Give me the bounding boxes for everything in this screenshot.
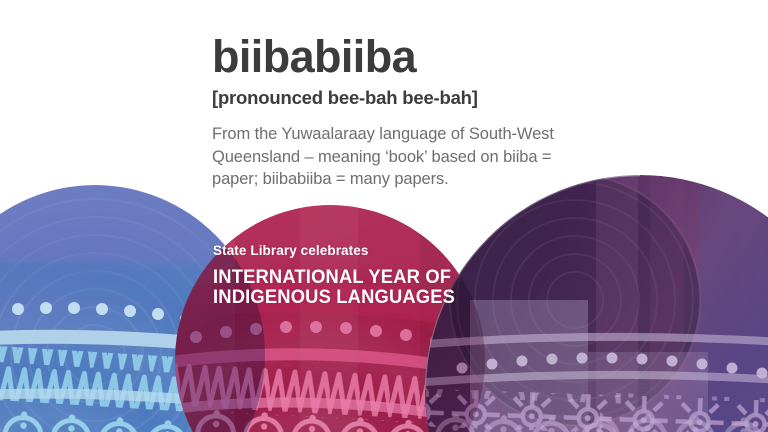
poster-canvas: biibabiiba [pronounced bee-bah bee-bah] … [0,0,768,432]
page-title: biibabiiba [212,34,632,81]
celebration-title-line-2: INDIGENOUS LANGUAGES [213,287,455,307]
definition-paragraph: From the Yuwaalaraay language of South-W… [212,123,592,191]
celebration-block: State Library celebrates INTERNATIONAL Y… [213,243,471,307]
celebration-title-line-1: INTERNATIONAL YEAR OF [213,267,455,287]
celebration-subtitle: State Library celebrates [213,243,471,258]
definition-text-block: biibabiiba [pronounced bee-bah bee-bah] … [212,34,632,191]
celebration-title: INTERNATIONAL YEAR OF INDIGENOUS LANGUAG… [213,267,455,307]
pronunciation-label: [pronounced bee-bah bee-bah] [212,87,632,109]
